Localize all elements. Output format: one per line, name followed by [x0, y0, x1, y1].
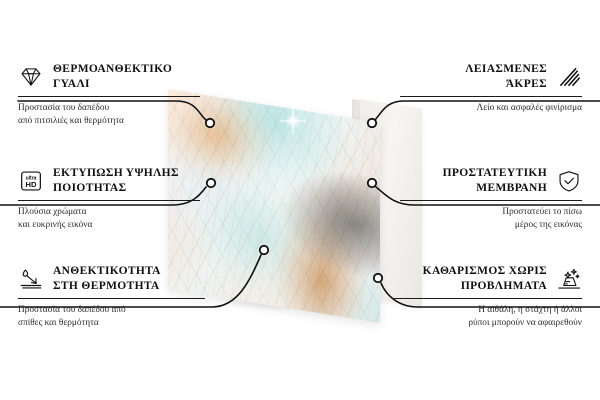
feature-heat-resistance-head: ΑΝΘΕΚΤΙΚΟΤΗΤΑ ΣΤΗ ΘΕΡΜΟΤΗΤΑ	[18, 264, 223, 294]
feature-heat-glass-description: Προστασία του δαπέδου από πιτσιλιές και …	[18, 102, 218, 127]
feature-heat-resistance-description: Προστασία του δαπέδου από σπίθες και θερ…	[18, 304, 223, 329]
infographic-canvas: ΘΕΡΜΟΑΝΘΕΚΤΙΚΟ ΓΥΑΛΙ Προστασία του δαπέδ…	[0, 0, 600, 400]
feature-title-line-2: ΆΚΡΕΣ	[506, 77, 547, 92]
feature-heat-resistance-titles: ΑΝΘΕΚΤΙΚΟΤΗΤΑ ΣΤΗ ΘΕΡΜΟΤΗΤΑ	[53, 264, 161, 294]
feature-title-line-2: ΓΥΑΛΙ	[53, 77, 172, 92]
feature-rule	[400, 200, 582, 201]
feature-title-line-2: ΜΕΜΒΡΑΝΗ	[476, 181, 547, 196]
feature-polished-edges-titles: ΛΕΙΑΣΜΕΝΕΣ ΆΚΡΕΣ	[465, 62, 547, 92]
feature-rule	[400, 96, 582, 97]
feature-protective-membrane: ΠΡΟΣΤΑΤΕΥΤΙΚΗ ΜΕΜΒΡΑΝΗ Προστατεύει το πί…	[382, 166, 582, 231]
feature-protective-membrane-titles: ΠΡΟΣΤΑΤΕΥΤΙΚΗ ΜΕΜΒΡΑΝΗ	[443, 166, 547, 196]
feature-print-quality: ultra HD ΕΚΤΥΠΩΣΗ ΥΨΗΛΗΣ ΠΟΙΟΤΗΤΑΣ Πλούσ…	[18, 166, 218, 231]
feature-title-line-1: ΚΑΘΑΡΙΣΜΟΣ ΧΩΡΙΣ	[423, 264, 547, 279]
flame-deflect-icon	[18, 267, 44, 291]
sponge-sparkle-icon	[556, 267, 582, 291]
feature-easy-cleaning-titles: ΚΑΘΑΡΙΣΜΟΣ ΧΩΡΙΣ ΠΡΟΒΛΗΜΑΤΑ	[423, 264, 547, 294]
feature-polished-edges: ΛΕΙΑΣΜΕΝΕΣ ΆΚΡΕΣ Λείο και ασφαλές φινίρι…	[382, 62, 582, 115]
feature-heat-resistance: ΑΝΘΕΚΤΙΚΟΤΗΤΑ ΣΤΗ ΘΕΡΜΟΤΗΤΑ Προστασία το…	[18, 264, 223, 329]
feature-easy-cleaning: ΚΑΘΑΡΙΣΜΟΣ ΧΩΡΙΣ ΠΡΟΒΛΗΜΑΤΑ Η αιθάλη, η …	[376, 264, 582, 329]
feature-print-quality-description: Πλούσια χρώματα και ευκρινής εικόνα	[18, 206, 218, 231]
feature-title-line-1: ΘΕΡΜΟΑΝΘΕΚΤΙΚΟ	[53, 62, 172, 77]
ultra-hd-bottom-text: HD	[25, 180, 37, 189]
feature-rule	[394, 298, 582, 299]
feature-protective-membrane-description: Προστατεύει το πίσω μέρος της εικόνας	[382, 206, 582, 231]
feature-polished-edges-description: Λείο και ασφαλές φινίρισμα	[382, 102, 582, 115]
feature-rule	[18, 200, 200, 201]
polished-edges-icon	[556, 65, 582, 89]
feature-heat-glass: ΘΕΡΜΟΑΝΘΕΚΤΙΚΟ ΓΥΑΛΙ Προστασία του δαπέδ…	[18, 62, 218, 127]
feature-rule	[18, 298, 205, 299]
feature-title-line-1: ΕΚΤΥΠΩΣΗ ΥΨΗΛΗΣ	[53, 166, 179, 181]
feature-heat-glass-head: ΘΕΡΜΟΑΝΘΕΚΤΙΚΟ ΓΥΑΛΙ	[18, 62, 218, 92]
shield-check-icon	[556, 169, 582, 193]
ultra-hd-icon: ultra HD	[18, 169, 44, 193]
feature-title-line-1: ΠΡΟΣΤΑΤΕΥΤΙΚΗ	[443, 166, 547, 181]
feature-print-quality-head: ultra HD ΕΚΤΥΠΩΣΗ ΥΨΗΛΗΣ ΠΟΙΟΤΗΤΑΣ	[18, 166, 218, 196]
feature-title-line-1: ΑΝΘΕΚΤΙΚΟΤΗΤΑ	[53, 264, 161, 279]
feature-easy-cleaning-head: ΚΑΘΑΡΙΣΜΟΣ ΧΩΡΙΣ ΠΡΟΒΛΗΜΑΤΑ	[376, 264, 582, 294]
feature-polished-edges-head: ΛΕΙΑΣΜΕΝΕΣ ΆΚΡΕΣ	[382, 62, 582, 92]
feature-title-line-1: ΛΕΙΑΣΜΕΝΕΣ	[465, 62, 547, 77]
feature-title-line-2: ΠΟΙΟΤΗΤΑΣ	[53, 181, 179, 196]
feature-rule	[18, 96, 200, 97]
diamond-icon	[18, 65, 44, 89]
feature-print-quality-titles: ΕΚΤΥΠΩΣΗ ΥΨΗΛΗΣ ΠΟΙΟΤΗΤΑΣ	[53, 166, 179, 196]
feature-easy-cleaning-description: Η αιθάλη, η στάχτη ή άλλοι ρύποι μπορούν…	[376, 304, 582, 329]
feature-title-line-2: ΠΡΟΒΛΗΜΑΤΑ	[461, 279, 547, 294]
feature-title-line-2: ΣΤΗ ΘΕΡΜΟΤΗΤΑ	[53, 279, 161, 294]
feature-protective-membrane-head: ΠΡΟΣΤΑΤΕΥΤΙΚΗ ΜΕΜΒΡΑΝΗ	[382, 166, 582, 196]
feature-heat-glass-titles: ΘΕΡΜΟΑΝΘΕΚΤΙΚΟ ΓΥΑΛΙ	[53, 62, 172, 92]
